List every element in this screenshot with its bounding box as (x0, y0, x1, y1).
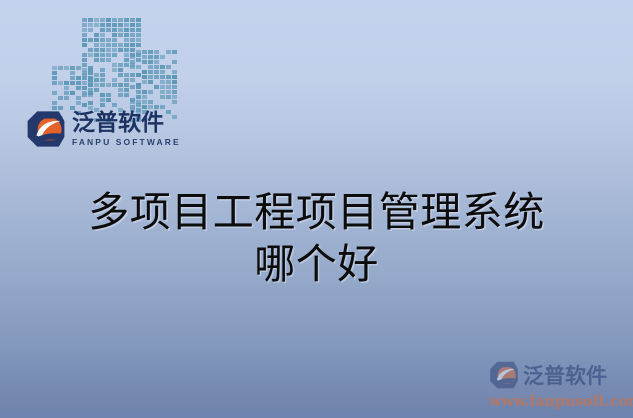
watermark-logo-row: 泛普软件 (489, 358, 625, 392)
skyline-pixel-block (106, 23, 111, 27)
skyline-pixel-block (172, 60, 177, 64)
skyline-pixel-block (130, 48, 135, 52)
skyline-pixel-block (136, 23, 141, 27)
skyline-pixel-block (52, 91, 57, 95)
skyline-pixel-block (100, 43, 105, 47)
skyline-pixel-block (148, 70, 153, 74)
skyline-pixel-block (130, 100, 135, 104)
skyline-pixel-block (88, 101, 93, 105)
skyline-pixel-block (106, 38, 111, 42)
skyline-pixel-block (58, 81, 63, 85)
brand-name-en: FANPU SOFTWARE (72, 138, 181, 147)
skyline-pixel-block (82, 73, 87, 77)
skyline-pixel-block (148, 65, 153, 69)
skyline-pixel-block (136, 18, 141, 22)
skyline-pixel-block (142, 95, 147, 99)
skyline-pixel-block (130, 23, 135, 27)
skyline-pixel-block (172, 80, 177, 84)
skyline-pixel-block (82, 23, 87, 27)
skyline-pixel-block (82, 28, 87, 32)
skyline-pixel-block (142, 90, 147, 94)
skyline-pixel-block (166, 85, 171, 89)
skyline-pixel-block (124, 78, 129, 82)
skyline-pixel-block (136, 95, 141, 99)
skyline-pixel-block (94, 73, 99, 77)
skyline-pixel-block (100, 83, 105, 87)
skyline-pixel-block (106, 48, 111, 52)
skyline-pixel-block (124, 53, 129, 57)
skyline-pixel-block (118, 88, 123, 92)
skyline-pixel-block (130, 28, 135, 32)
skyline-pixel-block (94, 43, 99, 47)
skyline-pixel-block (154, 75, 159, 79)
skyline-pixel-block (124, 73, 129, 77)
skyline-pixel-block (100, 98, 105, 102)
watermark: 泛普软件 www.fanpusoft.com (489, 358, 625, 414)
skyline-pixel-block (130, 78, 135, 82)
skyline-pixel-block (124, 18, 129, 22)
skyline-pixel-block (142, 80, 147, 84)
skyline-pixel-block (94, 53, 99, 57)
skyline-pixel-block (142, 75, 147, 79)
skyline-pixel-block (148, 55, 153, 59)
watermark-name-cn: 泛普软件 (523, 360, 607, 390)
skyline-pixel-block (118, 33, 123, 37)
skyline-pixel-block (112, 28, 117, 32)
skyline-pixel-block (136, 85, 141, 89)
skyline-pixel-block (52, 76, 57, 80)
skyline-pixel-block (112, 68, 117, 72)
skyline-pixel-block (82, 33, 87, 37)
skyline-pixel-block (172, 90, 177, 94)
skyline-pixel-block (154, 60, 159, 64)
skyline-pixel-block (118, 48, 123, 52)
skyline-pixel-block (82, 63, 87, 67)
skyline-pixel-block (160, 85, 165, 89)
skyline-pixel-block (88, 18, 93, 22)
skyline-pixel-block (100, 68, 105, 72)
skyline-pixel-block (64, 91, 69, 95)
skyline-pixel-block (88, 88, 93, 92)
skyline-pixel-block (130, 65, 135, 69)
skyline-pixel-block (136, 38, 141, 42)
pixel-city-skyline-icon (52, 18, 164, 110)
skyline-pixel-block (88, 53, 93, 57)
skyline-pixel-block (130, 60, 135, 64)
skyline-pixel-block (154, 65, 159, 69)
watermark-url: www.fanpusoft.com (489, 393, 625, 410)
skyline-pixel-block (112, 78, 117, 82)
skyline-pixel-block (154, 85, 159, 89)
skyline-pixel-block (88, 28, 93, 32)
skyline-pixel-block (166, 80, 171, 84)
skyline-pixel-block (58, 96, 63, 100)
skyline-pixel-block (52, 66, 57, 70)
skyline-pixel-block (136, 65, 141, 69)
skyline-pixel-block (118, 28, 123, 32)
skyline-pixel-block (142, 50, 147, 54)
skyline-pixel-block (118, 23, 123, 27)
skyline-pixel-block (106, 83, 111, 87)
skyline-pixel-block (136, 33, 141, 37)
brand-text-block: 泛普软件 FANPU SOFTWARE (72, 112, 181, 147)
skyline-pixel-block (142, 60, 147, 64)
skyline-pixel-block (112, 23, 117, 27)
skyline-pixel-block (124, 48, 129, 52)
watermark-fanpu-hexagon-swoosh-logo-icon (489, 360, 519, 390)
skyline-pixel-block (118, 43, 123, 47)
skyline-pixel-block (70, 81, 75, 85)
skyline-pixel-block (106, 58, 111, 62)
skyline-pixel-block (136, 43, 141, 47)
headline-line-1: 多项目工程项目管理系统 (0, 186, 633, 238)
skyline-pixel-block (118, 68, 123, 72)
skyline-pixel-block (130, 43, 135, 47)
skyline-pixel-block (124, 23, 129, 27)
skyline-pixel-block (160, 55, 165, 59)
skyline-pixel-block (100, 23, 105, 27)
skyline-pixel-block (130, 85, 135, 89)
skyline-pixel-block (100, 18, 105, 22)
skyline-pixel-block (94, 33, 99, 37)
skyline-pixel-block (94, 23, 99, 27)
skyline-pixel-block (130, 33, 135, 37)
skyline-pixel-block (136, 73, 141, 77)
skyline-pixel-block (82, 58, 87, 62)
skyline-pixel-block (166, 65, 171, 69)
skyline-pixel-block (88, 93, 93, 97)
skyline-pixel-block (166, 50, 171, 54)
skyline-pixel-block (172, 95, 177, 99)
skyline-pixel-block (136, 90, 141, 94)
skyline-pixel-block (124, 43, 129, 47)
skyline-pixel-block (106, 93, 111, 97)
skyline-pixel-block (100, 93, 105, 97)
skyline-pixel-block (106, 98, 111, 102)
skyline-pixel-block (136, 100, 141, 104)
skyline-pixel-block (148, 90, 153, 94)
skyline-pixel-block (112, 83, 117, 87)
skyline-pixel-block (82, 43, 87, 47)
skyline-pixel-block (148, 50, 153, 54)
skyline-pixel-block (148, 60, 153, 64)
skyline-pixel-block (106, 53, 111, 57)
skyline-pixel-block (124, 88, 129, 92)
skyline-pixel-block (148, 80, 153, 84)
skyline-pixel-block (118, 73, 123, 77)
skyline-pixel-block (106, 43, 111, 47)
skyline-pixel-block (94, 83, 99, 87)
skyline-pixel-block (88, 48, 93, 52)
skyline-pixel-block (118, 63, 123, 67)
skyline-pixel-block (124, 33, 129, 37)
fanpu-hexagon-swoosh-logo-icon (26, 109, 66, 149)
skyline-pixel-block (82, 53, 87, 57)
skyline-pixel-block (64, 66, 69, 70)
skyline-pixel-block (130, 18, 135, 22)
skyline-pixel-block (112, 38, 117, 42)
skyline-pixel-block (82, 38, 87, 42)
skyline-pixel-block (124, 38, 129, 42)
promo-banner: 泛普软件 FANPU SOFTWARE 多项目工程项目管理系统 哪个好 泛普软件… (0, 0, 633, 418)
skyline-pixel-block (100, 58, 105, 62)
skyline-pixel-block (112, 43, 117, 47)
skyline-pixel-block (100, 73, 105, 77)
skyline-pixel-block (76, 81, 81, 85)
skyline-pixel-block (76, 96, 81, 100)
skyline-pixel-block (70, 71, 75, 75)
skyline-pixel-block (124, 58, 129, 62)
skyline-pixel-block (88, 83, 93, 87)
skyline-pixel-block (118, 18, 123, 22)
skyline-pixel-block (154, 50, 159, 54)
skyline-pixel-block (94, 48, 99, 52)
skyline-pixel-block (88, 38, 93, 42)
skyline-pixel-block (112, 53, 117, 57)
brand-logo: 泛普软件 FANPU SOFTWARE (26, 106, 166, 152)
skyline-pixel-block (88, 68, 93, 72)
skyline-pixel-block (172, 100, 177, 104)
skyline-pixel-block (100, 53, 105, 57)
skyline-pixel-block (100, 78, 105, 82)
skyline-pixel-block (142, 70, 147, 74)
skyline-pixel-block (70, 66, 75, 70)
skyline-pixel-block (82, 68, 87, 72)
skyline-pixel-block (106, 28, 111, 32)
skyline-pixel-block (136, 28, 141, 32)
skyline-pixel-block (94, 78, 99, 82)
skyline-pixel-block (136, 58, 141, 62)
skyline-pixel-block (172, 70, 177, 74)
skyline-pixel-block (88, 23, 93, 27)
headline: 多项目工程项目管理系统 哪个好 (0, 186, 633, 290)
skyline-pixel-block (52, 81, 57, 85)
skyline-pixel-block (136, 50, 141, 54)
skyline-pixel-block (82, 86, 87, 90)
skyline-pixel-block (76, 101, 81, 105)
skyline-pixel-block (166, 75, 171, 79)
skyline-pixel-block (142, 100, 147, 104)
skyline-pixel-block (52, 101, 57, 105)
skyline-pixel-block (166, 95, 171, 99)
skyline-pixel-block (94, 38, 99, 42)
skyline-pixel-block (130, 73, 135, 77)
skyline-pixel-block (58, 66, 63, 70)
skyline-pixel-block (118, 83, 123, 87)
skyline-pixel-block (100, 48, 105, 52)
skyline-pixel-block (100, 28, 105, 32)
skyline-pixel-block (94, 18, 99, 22)
skyline-pixel-block (154, 70, 159, 74)
skyline-pixel-block (124, 63, 129, 67)
skyline-pixel-block (172, 50, 177, 54)
skyline-pixel-block (172, 85, 177, 89)
skyline-pixel-block (142, 55, 147, 59)
skyline-pixel-block (70, 76, 75, 80)
skyline-pixel-block (124, 28, 129, 32)
skyline-pixel-block (88, 78, 93, 82)
skyline-pixel-block (160, 65, 165, 69)
skyline-pixel-block (112, 63, 117, 67)
skyline-pixel-block (166, 90, 171, 94)
skyline-pixel-block (52, 71, 57, 75)
skyline-pixel-block (160, 75, 165, 79)
skyline-pixel-block (112, 33, 117, 37)
skyline-pixel-block (148, 75, 153, 79)
skyline-pixel-block (160, 80, 165, 84)
skyline-pixel-block (82, 81, 87, 85)
skyline-pixel-block (130, 55, 135, 59)
skyline-pixel-block (154, 55, 159, 59)
skyline-pixel-block (112, 48, 117, 52)
headline-line-2: 哪个好 (0, 238, 633, 290)
skyline-pixel-block (118, 93, 123, 97)
skyline-pixel-block (112, 18, 117, 22)
skyline-pixel-block (64, 86, 69, 90)
skyline-pixel-block (106, 18, 111, 22)
skyline-pixel-block (160, 95, 165, 99)
skyline-pixel-block (160, 70, 165, 74)
skyline-pixel-block (124, 93, 129, 97)
skyline-pixel-block (76, 86, 81, 90)
skyline-pixel-block (100, 33, 105, 37)
skyline-pixel-block (124, 83, 129, 87)
skyline-pixel-block (76, 76, 81, 80)
skyline-pixel-block (94, 88, 99, 92)
skyline-pixel-block (94, 58, 99, 62)
skyline-pixel-block (160, 90, 165, 94)
skyline-pixel-block (148, 100, 153, 104)
skyline-pixel-block (82, 93, 87, 97)
skyline-pixel-block (64, 81, 69, 85)
skyline-pixel-block (100, 38, 105, 42)
skyline-pixel-block (64, 96, 69, 100)
skyline-pixel-block (70, 91, 75, 95)
skyline-pixel-block (130, 38, 135, 42)
skyline-pixel-block (172, 75, 177, 79)
skyline-pixel-block (76, 66, 81, 70)
skyline-pixel-block (82, 18, 87, 22)
brand-name-cn: 泛普软件 (72, 112, 181, 135)
